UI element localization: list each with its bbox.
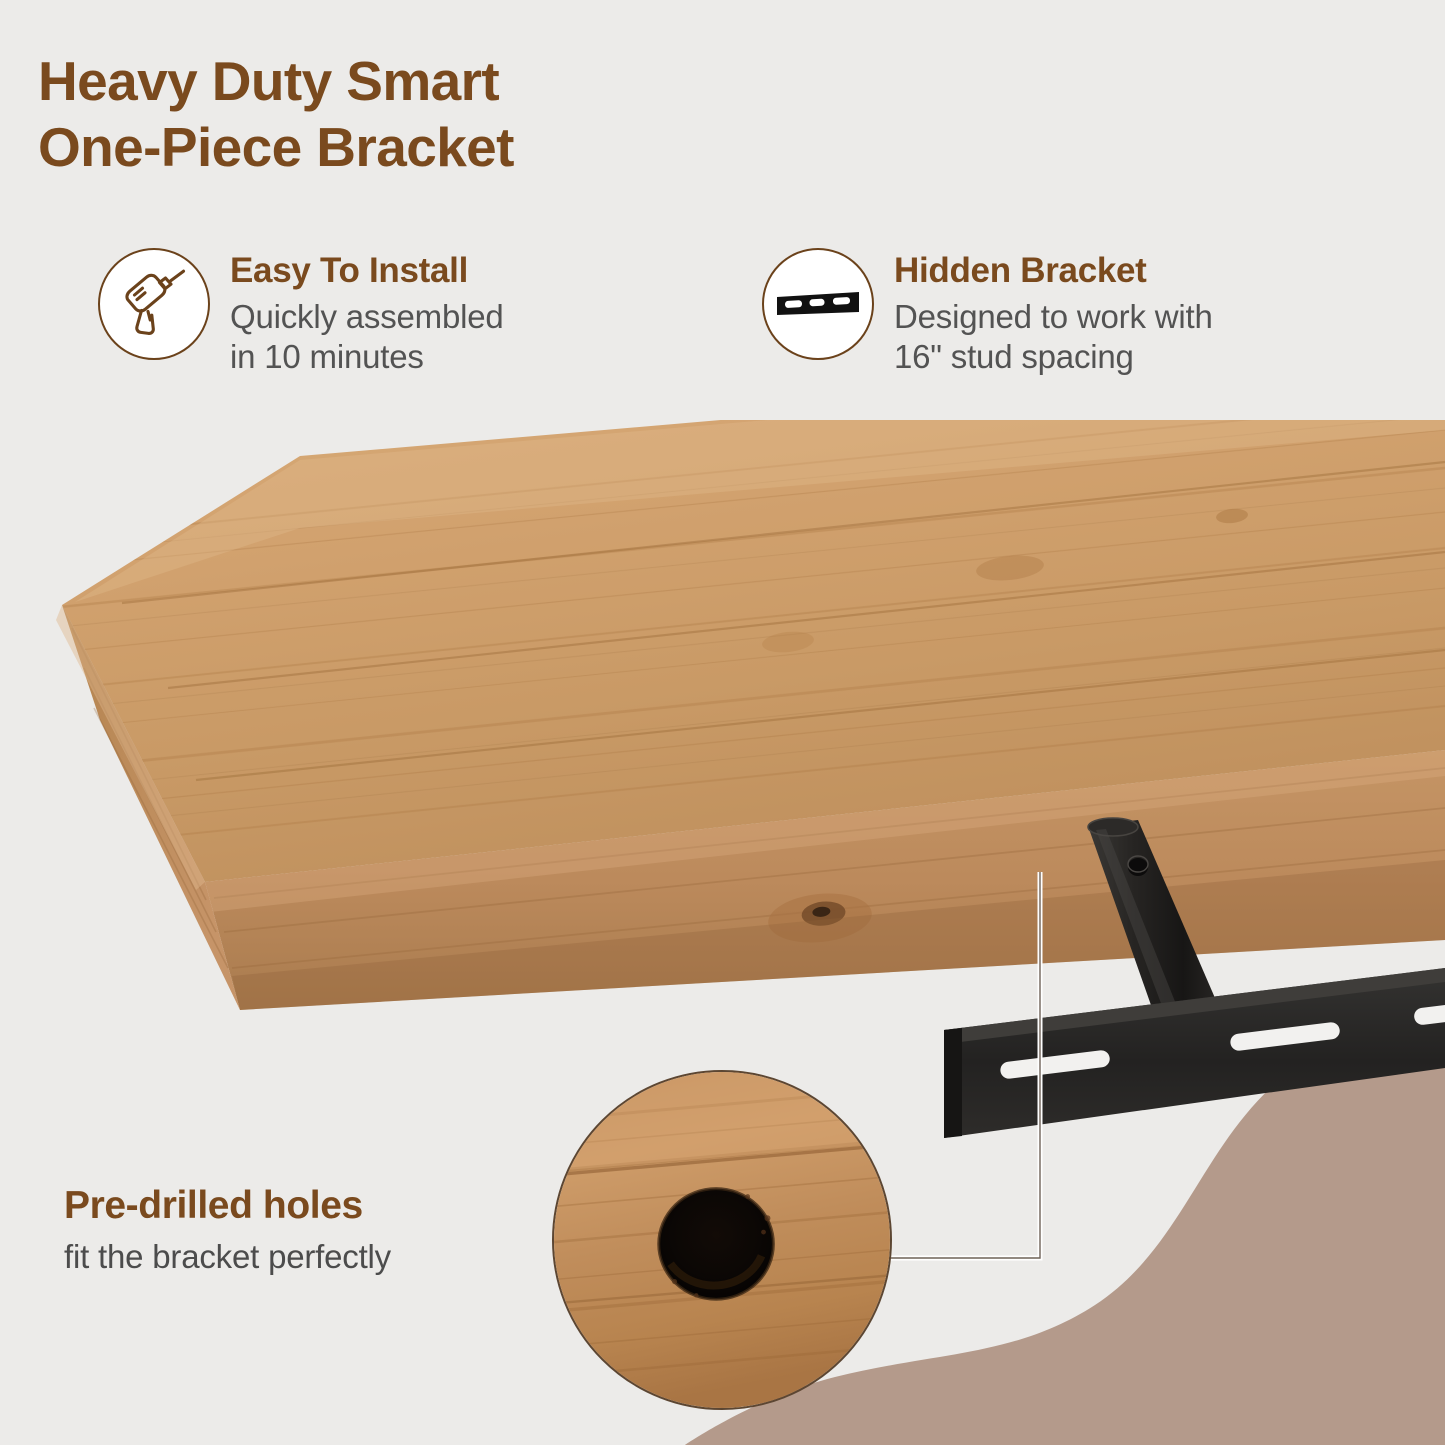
feature-heading: Easy To Install [230,252,504,291]
pre-drilled-hole-magnifier [552,1070,892,1410]
feature-text-block: Easy To Install Quickly assembled in 10 … [230,248,504,377]
feature-icon-badge [762,248,874,360]
callout-heading: Pre-drilled holes [64,1185,391,1228]
feature-easy-to-install: Easy To Install Quickly assembled in 10 … [98,248,504,377]
pre-drilled-holes-callout: Pre-drilled holes fit the bracket perfec… [64,1185,391,1276]
feature-description: Quickly assembled in 10 minutes [230,297,504,378]
feature-icon-badge [98,248,210,360]
page-title: Heavy Duty Smart One-Piece Bracket [38,48,514,180]
feature-description: Designed to work with 16" stud spacing [894,297,1213,378]
hidden-bracket-icon [775,284,861,324]
feature-text-block: Hidden Bracket Designed to work with 16"… [894,248,1213,377]
callout-description: fit the bracket perfectly [64,1238,391,1276]
callout-leader-line [880,840,1300,1280]
drill-icon [115,265,193,343]
product-infographic: Heavy Duty Smart One-Piece Bracket [0,0,1445,1445]
feature-heading: Hidden Bracket [894,252,1213,291]
feature-hidden-bracket: Hidden Bracket Designed to work with 16"… [762,248,1213,377]
magnifier-content [552,1070,892,1410]
